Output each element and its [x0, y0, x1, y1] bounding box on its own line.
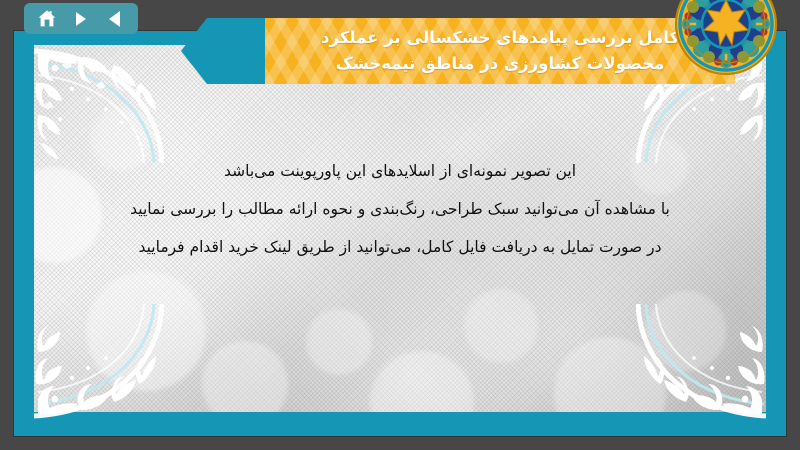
body-line: این تصویر نمونه‌ای از اسلایدهای این پاور… [64, 153, 736, 191]
navigation-toolbar [24, 3, 138, 34]
bokeh-circle [86, 271, 206, 391]
previous-slide-button[interactable] [99, 6, 131, 31]
bokeh-circle [370, 351, 474, 412]
slide-viewer: این تصویر نمونه‌ای از اسلایدهای این پاور… [0, 0, 800, 450]
bokeh-circle [464, 289, 538, 363]
slide-body-text: این تصویر نمونه‌ای از اسلایدهای این پاور… [64, 153, 736, 267]
bokeh-circle [306, 309, 372, 375]
triangle-left-icon [107, 10, 123, 28]
slide-canvas: این تصویر نمونه‌ای از اسلایدهای این پاور… [34, 45, 766, 412]
triangle-right-icon [74, 10, 88, 28]
body-line: با مشاهده آن می‌توانید سبک طراحی، رنگ‌بن… [64, 191, 736, 229]
slide-title-banner: کامل بررسی پیامدهای خشکسالی بر عملکرد مح… [265, 18, 735, 84]
bokeh-circle [646, 291, 726, 371]
house-icon [37, 9, 57, 28]
slide-frame: این تصویر نمونه‌ای از اسلایدهای این پاور… [14, 31, 786, 436]
title-line: محصولات کشاورزی در مناطق نیمه‌خشک [336, 51, 665, 77]
title-line: کامل بررسی پیامدهای خشکسالی بر عملکرد [321, 25, 679, 51]
bokeh-circle [202, 341, 288, 412]
next-slide-button[interactable] [65, 6, 97, 31]
body-line: در صورت تمایل به دریافت فایل کامل، می‌تو… [64, 229, 736, 267]
home-button[interactable] [31, 6, 63, 31]
